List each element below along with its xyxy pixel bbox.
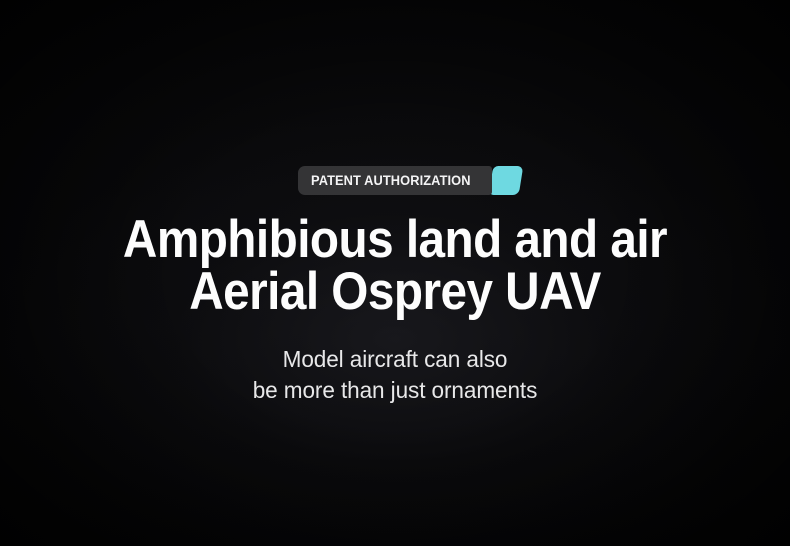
banner-content: PATENT AUTHORIZATION Amphibious land and…	[0, 0, 790, 546]
badge-row: PATENT AUTHORIZATION	[0, 166, 790, 198]
promo-banner: PATENT AUTHORIZATION Amphibious land and…	[0, 0, 790, 546]
badge-label: PATENT AUTHORIZATION	[311, 174, 471, 188]
headline-line-2: Aerial Osprey UAV	[40, 266, 751, 318]
subtitle-line-2: be more than just ornaments	[16, 375, 774, 406]
badge-plate: PATENT AUTHORIZATION	[298, 166, 493, 195]
subtitle-line-1: Model aircraft can also	[16, 344, 774, 375]
headline-line-1: Amphibious land and air	[40, 214, 751, 266]
badge-accent-shape	[488, 166, 523, 195]
page-subtitle: Model aircraft can also be more than jus…	[0, 344, 790, 406]
page-title: Amphibious land and air Aerial Osprey UA…	[0, 214, 790, 318]
patent-authorization-badge: PATENT AUTHORIZATION	[298, 166, 493, 195]
